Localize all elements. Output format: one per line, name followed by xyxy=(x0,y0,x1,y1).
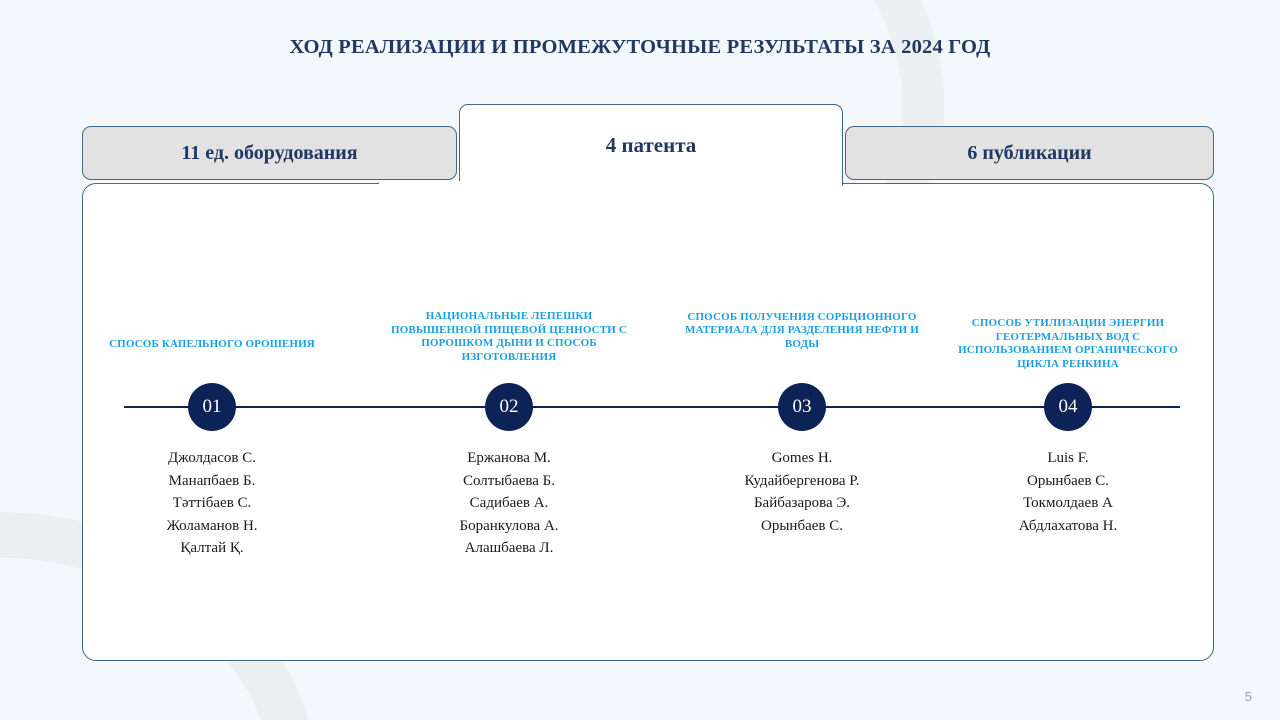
author-name: Орынбаев С. xyxy=(684,515,920,538)
tab-patents[interactable]: 4 патента xyxy=(459,104,843,186)
patent-authors-02: Ержанова М. Солтыбаева Б. Садибаев А. Бо… xyxy=(391,447,627,560)
author-name: Джолдасов С. xyxy=(94,447,330,470)
tab-publications[interactable]: 6 публикации xyxy=(845,126,1214,180)
author-name: Орынбаев С. xyxy=(950,470,1186,493)
content-panel xyxy=(82,183,1214,661)
timeline-marker-01: 01 xyxy=(188,383,236,431)
active-tab-merge-strip xyxy=(379,181,759,187)
author-name: Садибаев А. xyxy=(391,492,627,515)
author-name: Алашбаева Л. xyxy=(391,537,627,560)
author-name: Қалтай Қ. xyxy=(94,537,330,560)
author-name: Манапбаев Б. xyxy=(94,470,330,493)
timeline-marker-03: 03 xyxy=(778,383,826,431)
patent-title-01: СПОСОБ КАПЕЛЬНОГО ОРОШЕНИЯ xyxy=(94,338,330,352)
patent-authors-04: Luis F. Орынбаев С. Токмолдаев А Абдлаха… xyxy=(950,447,1186,537)
tab-publications-label: 6 публикации xyxy=(967,142,1091,165)
timeline-marker-04: 04 xyxy=(1044,383,1092,431)
tab-bar: 11 ед. оборудования 4 патента 6 публикац… xyxy=(82,104,1214,188)
author-name: Абдлахатова Н. xyxy=(950,515,1186,538)
author-name: Кудайбергенова Р. xyxy=(684,470,920,493)
author-name: Солтыбаева Б. xyxy=(391,470,627,493)
tab-equipment[interactable]: 11 ед. оборудования xyxy=(82,126,457,180)
author-name: Luis F. xyxy=(950,447,1186,470)
author-name: Боранкулова А. xyxy=(391,515,627,538)
patent-authors-01: Джолдасов С. Манапбаев Б. Тәттібаев С. Ж… xyxy=(94,447,330,560)
tab-equipment-label: 11 ед. оборудования xyxy=(181,142,357,165)
patent-title-03: СПОСОБ ПОЛУЧЕНИЯ СОРБЦИОННОГО МАТЕРИАЛА … xyxy=(684,311,920,352)
author-name: Ержанова М. xyxy=(391,447,627,470)
timeline-axis xyxy=(124,406,1180,408)
page-number: 5 xyxy=(1245,689,1252,704)
patent-authors-03: Gomes H. Кудайбергенова Р. Байбазарова Э… xyxy=(684,447,920,537)
author-name: Gomes H. xyxy=(684,447,920,470)
page-title: ХОД РЕАЛИЗАЦИИ И ПРОМЕЖУТОЧНЫЕ РЕЗУЛЬТАТ… xyxy=(0,36,1280,59)
author-name: Токмолдаев А xyxy=(950,492,1186,515)
author-name: Тәттібаев С. xyxy=(94,492,330,515)
patent-title-04: СПОСОБ УТИЛИЗАЦИИ ЭНЕРГИИ ГЕОТЕРМАЛЬНЫХ … xyxy=(950,317,1186,371)
author-name: Жоламанов Н. xyxy=(94,515,330,538)
author-name: Байбазарова Э. xyxy=(684,492,920,515)
patent-title-02: НАЦИОНАЛЬНЫЕ ЛЕПЕШКИ ПОВЫШЕННОЙ ПИЩЕВОЙ … xyxy=(391,310,627,364)
timeline-marker-02: 02 xyxy=(485,383,533,431)
tab-patents-label: 4 патента xyxy=(606,133,697,158)
